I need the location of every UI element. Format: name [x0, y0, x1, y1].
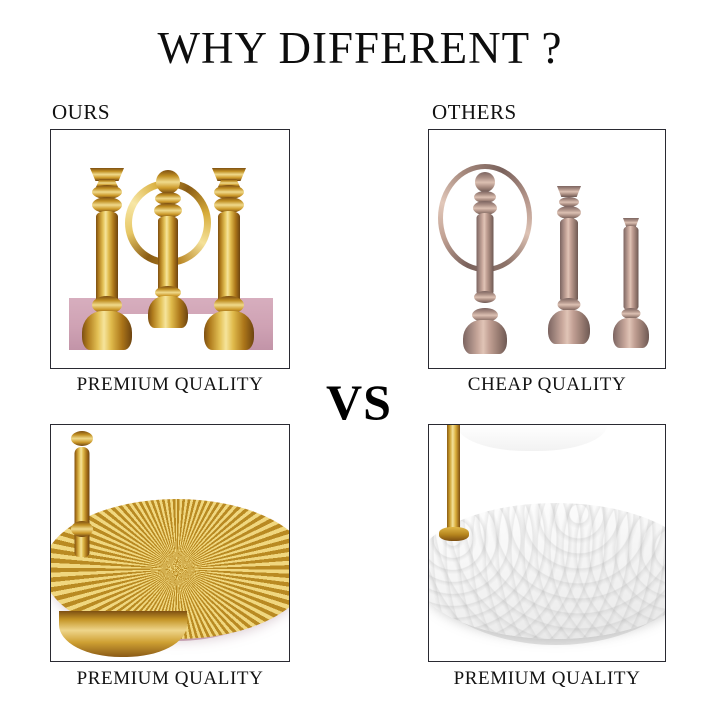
caption-top-left: PREMIUM QUALITY	[50, 374, 290, 396]
finial-ball	[156, 170, 180, 194]
page-title: WHY DIFFERENT ?	[0, 22, 720, 74]
infographic-canvas: WHY DIFFERENT ? OURS OTHERS	[0, 0, 720, 720]
pink-ceramic-tray-image	[51, 425, 289, 661]
bronze-candlestick-set-image	[429, 130, 665, 368]
finial-ball	[475, 172, 495, 192]
gold-candlestick-right	[201, 168, 257, 350]
foot	[204, 311, 254, 350]
gold-spindle-post	[69, 425, 95, 577]
shaft	[158, 216, 178, 294]
bronze-candlestick-with-ring	[451, 158, 519, 354]
product-panel-top-left	[50, 129, 290, 369]
white-glass-tray-image	[429, 425, 665, 661]
bronze-candlestick-middle	[541, 186, 597, 354]
shaft	[624, 226, 639, 310]
foot	[148, 296, 188, 328]
gold-pedestal-foot	[59, 611, 187, 657]
gold-rod	[447, 425, 460, 533]
knob	[71, 431, 93, 446]
caption-bottom-right: PREMIUM QUALITY	[428, 668, 666, 690]
gold-candlestick-set-image	[51, 130, 289, 368]
shaft	[218, 211, 240, 307]
gold-candlestick-left	[79, 168, 135, 350]
shaft	[560, 218, 578, 302]
gold-rod-fitting	[439, 527, 469, 541]
caption-bottom-left: PREMIUM QUALITY	[50, 668, 290, 690]
tray-bowl	[428, 503, 666, 639]
knob	[71, 521, 93, 537]
product-panel-bottom-left	[50, 424, 290, 662]
shaft	[96, 211, 118, 307]
shaft	[477, 213, 494, 295]
candle-cup	[557, 186, 581, 197]
column-header-ours: OURS	[52, 100, 110, 124]
bronze-candlestick-right	[609, 218, 653, 354]
column-header-others: OTHERS	[432, 100, 517, 124]
upper-tier-edge	[457, 425, 607, 451]
product-panel-top-right	[428, 129, 666, 369]
versus-label: VS	[290, 374, 428, 430]
knob	[474, 291, 496, 303]
foot	[82, 311, 132, 350]
foot	[548, 310, 590, 344]
foot	[463, 320, 507, 354]
fan-pattern-texture	[428, 503, 666, 639]
foot	[613, 318, 649, 348]
gold-candlestick-center-with-ring	[137, 168, 199, 328]
product-panel-bottom-right	[428, 424, 666, 662]
caption-top-right: CHEAP QUALITY	[428, 374, 666, 396]
shaft	[75, 447, 90, 557]
